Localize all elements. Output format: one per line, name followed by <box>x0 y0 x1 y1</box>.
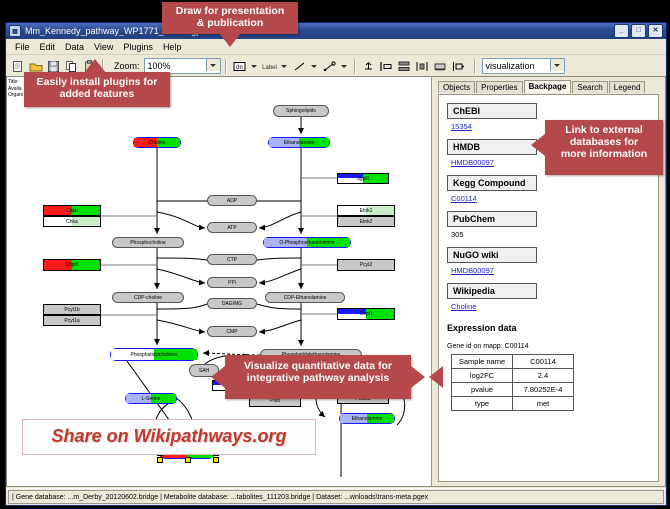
table-cell-key: log2FC <box>452 369 513 383</box>
svg-text:dn: dn <box>236 64 243 70</box>
gene-node-cept1[interactable]: Cept1 <box>337 308 395 320</box>
window-buttons: _ □ ✕ <box>614 24 663 38</box>
backpage-link-kegg-compound[interactable]: C00114 <box>451 194 650 203</box>
menu-item-view[interactable]: View <box>89 41 118 53</box>
gene-node-etnk2[interactable]: Etnk2 <box>337 216 395 227</box>
callout-plugins-arrow-icon <box>84 59 106 73</box>
metabolite-node-ppi[interactable]: PPi <box>207 277 257 288</box>
order-icon[interactable] <box>450 58 467 75</box>
datanode-icon[interactable]: dn <box>231 58 248 75</box>
anchor-icon[interactable] <box>321 58 338 75</box>
table-cell-value: C00114 <box>513 355 574 369</box>
screenshot-root: ▦ Mm_Kennedy_pathway_WP1771_45176.gpml _… <box>0 0 670 509</box>
metabolite-node-ctp[interactable]: CTP <box>207 254 257 265</box>
stack-icon[interactable] <box>396 58 413 75</box>
selection-handle[interactable] <box>157 457 163 463</box>
selection-handle[interactable] <box>185 457 191 463</box>
menu-item-plugins[interactable]: Plugins <box>118 41 158 53</box>
backpage-heading-pubchem: PubChem <box>447 211 537 227</box>
node-label: CDP-choline <box>134 295 162 301</box>
zoom-value: 100% <box>148 61 171 71</box>
node-label: O-Phosphoethanolamine <box>279 240 334 246</box>
gene-id-line: Gene id on mapp: C00114 <box>447 343 650 350</box>
toolbar-separator-4 <box>474 59 476 74</box>
callout-plugins: Easily install plugins for added feature… <box>24 72 170 107</box>
node-label: Phosphocholine <box>130 240 166 246</box>
line-icon[interactable] <box>291 58 308 75</box>
tab-objects[interactable]: Objects <box>438 81 475 93</box>
menu-item-file[interactable]: File <box>10 41 35 53</box>
selection-handle[interactable] <box>213 457 219 463</box>
node-label: Choline <box>149 140 166 146</box>
align-top-icon[interactable] <box>360 58 377 75</box>
metabolite-node-choline-top[interactable]: Choline <box>133 137 181 148</box>
node-label: L-Serine <box>142 396 161 402</box>
callout-link-line3: more information <box>545 149 663 161</box>
node-label: Sgpl1 <box>357 176 370 182</box>
node-label: ADP <box>227 198 237 204</box>
callout-visualize-line1: Visualize quantitative data for <box>225 361 411 373</box>
info-label-organism: Organi <box>8 92 23 99</box>
metabolite-node-dagmg[interactable]: DAG/MG <box>207 298 257 309</box>
callout-visualize-arrow-sidebar-icon <box>429 366 443 388</box>
backpage-heading-wikipedia: Wikipedia <box>447 283 537 299</box>
status-text: | Gene database: ...m_Derby_20120602.bri… <box>8 490 664 504</box>
node-label: Pcyt1b <box>64 307 79 313</box>
table-row: typemet <box>452 397 574 411</box>
node-label: Pcyt1a <box>64 318 79 324</box>
visualization-value: visualization <box>486 61 535 71</box>
table-cell-value: met <box>513 397 574 411</box>
menu-item-help[interactable]: Help <box>158 41 187 53</box>
callout-visualize-arrow-left-icon <box>211 366 225 388</box>
metabolite-node-phosphatidylcholines[interactable]: Phosphatidylcholines <box>110 348 198 361</box>
callout-link-line2: databases for <box>545 137 663 149</box>
node-label: CDP-Ethanolamine <box>284 295 327 301</box>
node-label: Etnk1 <box>360 208 373 214</box>
node-label: PPi <box>228 280 236 286</box>
gene-node-chkb[interactable]: Chkb <box>43 205 101 216</box>
label-dropdown[interactable]: Label <box>261 58 290 75</box>
node-label: CMP <box>226 329 237 335</box>
node-label: SAH <box>199 368 209 374</box>
visualization-chevron-down-icon[interactable] <box>550 59 564 71</box>
node-label: Phosphatidylcholines <box>131 352 178 358</box>
node-label: Pcyt2 <box>360 262 373 268</box>
menu-item-edit[interactable]: Edit <box>35 41 61 53</box>
zoom-label: Zoom: <box>114 61 140 71</box>
metabolite-node-atp[interactable]: ATP <box>207 222 257 233</box>
backpage-link-wikipedia[interactable]: Choline <box>451 302 650 311</box>
backpage-heading-nugo-wiki: NuGO wiki <box>447 247 537 263</box>
callout-link-arrow-icon <box>531 134 545 156</box>
node-label: ATP <box>227 225 236 231</box>
gene-node-chka[interactable]: Chka <box>43 216 101 227</box>
metabolite-node-cdp-ethanolamine[interactable]: CDP-Ethanolamine <box>265 292 345 303</box>
callout-draw-line1: Draw for presentation <box>162 6 298 18</box>
table-row: Sample nameC00114 <box>452 355 574 369</box>
metabolite-node-phosphocholine[interactable]: Phosphocholine <box>112 237 184 248</box>
node-label: Cept1 <box>359 311 372 317</box>
callout-draw: Draw for presentation & publication <box>162 2 298 34</box>
tab-properties[interactable]: Properties <box>476 81 522 93</box>
callout-visualize-line2: integrative pathway analysis <box>225 373 411 385</box>
chevron-down-icon[interactable] <box>206 59 220 71</box>
table-cell-key: pvalue <box>452 383 513 397</box>
anchor-dropdown[interactable] <box>321 58 350 75</box>
backpage-heading-hmdb: HMDB <box>447 139 537 155</box>
callout-draw-arrow-icon <box>219 33 241 47</box>
callout-share: Share on Wikipathways.org <box>22 419 316 455</box>
pathvisio-icon: ▦ <box>9 25 21 37</box>
expression-data-title: Expression data <box>447 323 650 333</box>
node-label: Ethanolamine <box>284 140 315 146</box>
metabolite-node-ethanolamine-bottom[interactable]: Ethanolamine <box>339 413 395 424</box>
line-dropdown[interactable] <box>291 58 320 75</box>
datanode-dropdown[interactable]: dn <box>231 58 260 75</box>
callout-plugins-line1: Easily install plugins for <box>24 77 170 89</box>
callout-draw-line2: & publication <box>162 18 298 30</box>
node-label: DAG/MG <box>222 301 242 307</box>
backpage-value-pubchem: 305 <box>451 230 650 239</box>
callout-visualize-arrow-right-icon <box>411 366 425 388</box>
node-label: Sphingolipids <box>286 108 316 114</box>
pathway-info-labels: Title: Availa Organi <box>8 79 23 99</box>
node-label: CTP <box>227 257 237 263</box>
toolbar-separator-2 <box>225 59 227 74</box>
window-title: Mm_Kennedy_pathway_WP1771_45176.gpml <box>25 26 614 36</box>
metabolite-node-cdp-choline[interactable]: CDP-choline <box>112 292 184 303</box>
group-icon[interactable] <box>432 58 449 75</box>
menu-item-data[interactable]: Data <box>60 41 89 53</box>
toolbar-separator-3 <box>354 59 356 74</box>
svg-text:Label: Label <box>262 65 277 71</box>
callout-link: Link to external databases for more info… <box>545 120 663 175</box>
callout-link-line1: Link to external <box>545 125 663 137</box>
metabolite-node-adp[interactable]: ADP <box>207 195 257 206</box>
node-label: Chkb <box>66 208 78 214</box>
node-label: Etnk2 <box>360 219 373 225</box>
maximize-button[interactable]: □ <box>631 24 646 38</box>
gene-node-etnk1[interactable]: Etnk1 <box>337 205 395 216</box>
backpage-link-nugo-wiki[interactable]: HMDB00097 <box>451 266 650 275</box>
metabolite-node-sphingolipids[interactable]: Sphingolipids <box>273 105 329 117</box>
backpage-heading-kegg-compound: Kegg Compound <box>447 175 537 191</box>
visualization-combo[interactable]: visualization <box>482 58 565 74</box>
gene-node-sgpl1[interactable]: Sgpl1 <box>337 173 389 184</box>
node-label: Chka <box>66 219 78 225</box>
gene-node-pcyt1a[interactable]: Pcyt1a <box>43 315 101 326</box>
tab-search[interactable]: Search <box>572 81 607 93</box>
status-bar: | Gene database: ...m_Derby_20120602.bri… <box>6 488 666 505</box>
menu-bar: File Edit Data View Plugins Help <box>6 39 666 55</box>
table-row: log2FC2.4 <box>452 369 574 383</box>
metabolite-node-ethanolamine-top[interactable]: Ethanolamine <box>268 137 330 148</box>
metabolite-node-cmp[interactable]: CMP <box>207 326 257 337</box>
node-label: Chpt1 <box>65 262 78 268</box>
backpage-heading-chebi: ChEBI <box>447 103 537 119</box>
gene-node-pcyt1b[interactable]: Pcyt1b <box>43 304 101 315</box>
expression-data-table: Sample nameC00114log2FC2.4pvalue7.80252E… <box>451 354 574 411</box>
minimize-button[interactable]: _ <box>614 24 629 38</box>
distribute-icon[interactable] <box>414 58 431 75</box>
gene-node-pcyt2[interactable]: Pcyt2 <box>337 259 395 271</box>
metabolite-node-o-phosphoethanolamine[interactable]: O-Phosphoethanolamine <box>263 237 351 248</box>
label-icon[interactable]: Label <box>261 58 278 75</box>
title-bar: ▦ Mm_Kennedy_pathway_WP1771_45176.gpml _… <box>6 23 666 39</box>
tab-backpage[interactable]: Backpage <box>524 80 572 93</box>
callout-plugins-line2: added features <box>24 89 170 101</box>
table-cell-value: 2.4 <box>513 369 574 383</box>
gene-node-chpt1[interactable]: Chpt1 <box>43 259 101 271</box>
callout-visualize: Visualize quantitative data for integrat… <box>225 355 411 399</box>
table-cell-key: type <box>452 397 513 411</box>
close-button[interactable]: ✕ <box>648 24 663 38</box>
table-row: pvalue7.80252E-4 <box>452 383 574 397</box>
table-cell-key: Sample name <box>452 355 513 369</box>
tab-legend[interactable]: Legend <box>609 81 646 93</box>
metabolite-node-l-serine-left[interactable]: L-Serine <box>125 393 177 404</box>
sidebar-tabs: Objects Properties Backpage Search Legen… <box>432 80 665 93</box>
align-left-icon[interactable] <box>378 58 395 75</box>
table-cell-value: 7.80252E-4 <box>513 383 574 397</box>
node-label: Ethanolamine <box>352 416 383 422</box>
